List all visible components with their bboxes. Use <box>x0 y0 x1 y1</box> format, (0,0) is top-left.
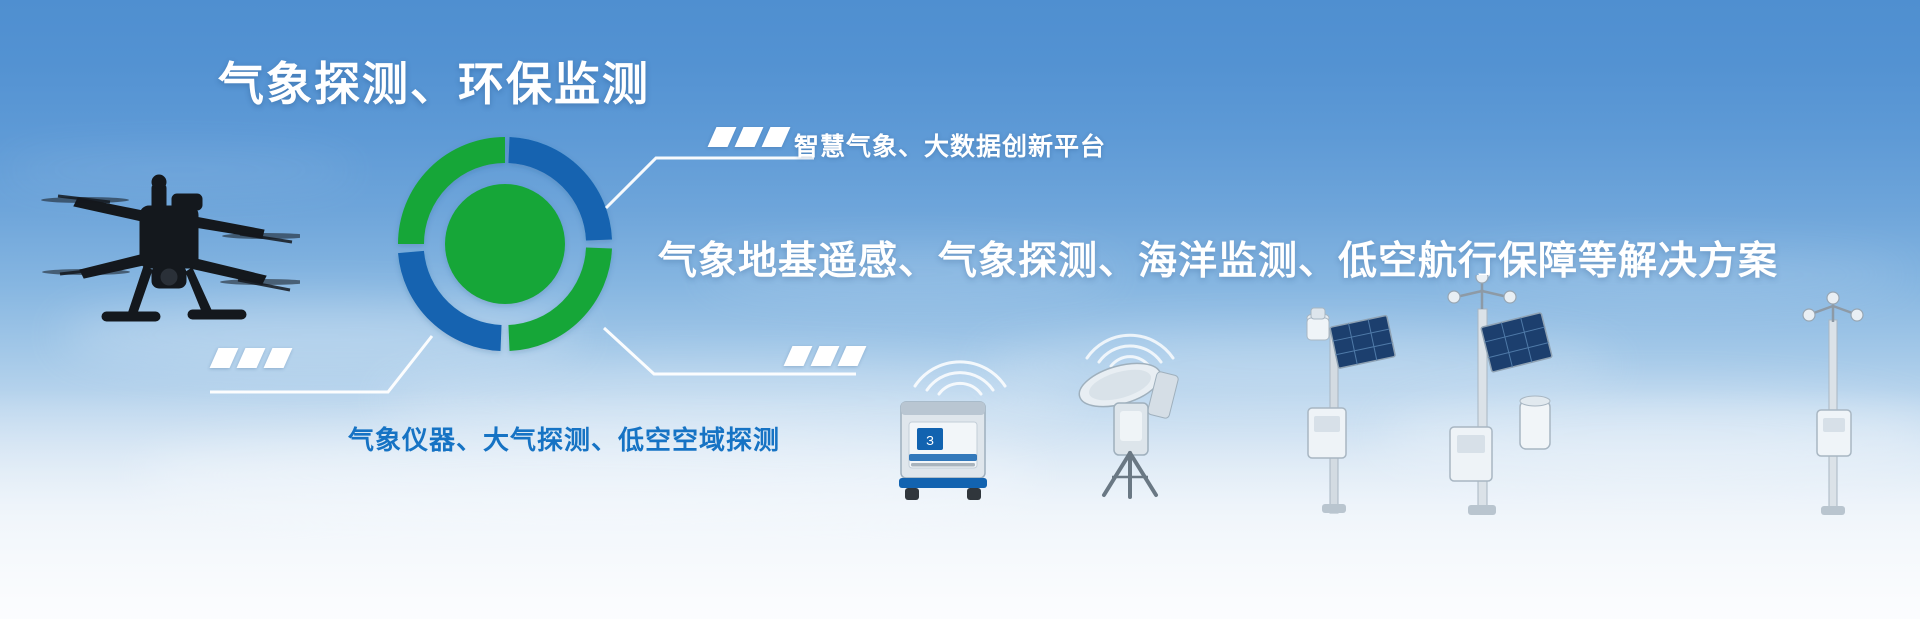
banner-root: 气象探测、环保监测 <box>0 0 1920 619</box>
slash-mark-bottom-left <box>214 348 288 368</box>
lidar-box-icon: З <box>895 392 991 502</box>
callout-main-text: 气象地基遥感、气象探测、海洋监测、低空航行保障等解决方案 <box>658 230 1778 286</box>
slash-icon <box>735 127 764 147</box>
donut-diagram <box>389 128 621 360</box>
slash-icon <box>762 127 791 147</box>
slash-icon <box>237 348 266 368</box>
satellite-dish-icon <box>1068 355 1196 500</box>
signal-wave-icon <box>905 330 1015 400</box>
slash-icon <box>838 346 867 366</box>
slash-mark-bottom-right <box>788 346 862 366</box>
callout-top-text: 智慧气象、大数据创新平台 <box>794 127 1106 163</box>
slash-icon <box>708 127 737 147</box>
slash-icon <box>811 346 840 366</box>
solar-weather-station-icon <box>1412 275 1562 515</box>
page-title: 气象探测、环保监测 <box>218 48 650 114</box>
slash-mark-top <box>712 127 786 147</box>
slash-icon <box>210 348 239 368</box>
svg-text:З: З <box>926 433 934 448</box>
callout-bottom-text: 气象仪器、大气探测、低空空域探测 <box>348 420 780 457</box>
solar-weather-station-icon <box>1278 300 1396 515</box>
slash-icon <box>784 346 813 366</box>
anemometer-mast-icon <box>1795 290 1875 515</box>
drone-icon <box>40 150 300 350</box>
slash-icon <box>264 348 293 368</box>
